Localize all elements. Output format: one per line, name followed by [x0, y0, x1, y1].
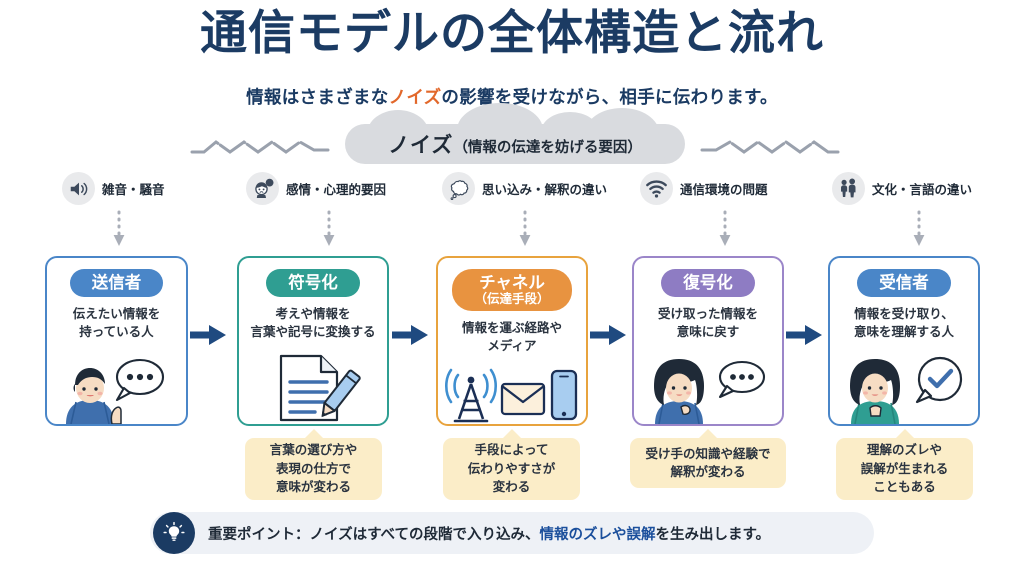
flow-arrow-0 [190, 322, 226, 348]
page-title-text: 通信モデルの全体構造と流れ [200, 6, 824, 61]
flow-box-encoding[interactable]: 符号化考えや情報を 言葉や記号に変換する [237, 256, 389, 426]
people-icon [832, 172, 865, 205]
flow-box-title-pill: 受信者 [857, 269, 951, 297]
key-point-text: 重要ポイント：ノイズはすべての段階で入り込み、情報のズレや誤解を生み出します。 [208, 523, 770, 544]
flow-box-channel[interactable]: チャネル（伝達手段）情報を運ぶ経路や メディア [436, 256, 588, 426]
note-channel: 手段によって 伝わりやすさが 変わる [443, 438, 580, 500]
flow-box-decoding[interactable]: 復号化受け取った情報を 意味に戻す [632, 256, 784, 426]
thought-bubble-icon [442, 172, 475, 205]
flow-box-description: 受け取った情報を 意味に戻す [658, 305, 758, 341]
page-title-wrap: 通信モデルの全体構造と流れ [0, 8, 1024, 61]
lightbulb-glyph [162, 521, 186, 545]
subtitle-noise-word: ノイズ [389, 88, 442, 108]
noise-item-label: 文化・言語の違い [872, 179, 972, 198]
flow-box-subtitle: （伝達手段） [474, 292, 549, 306]
key-point-pre: 重要ポイント：ノイズはすべての段階で入り込み、 [208, 527, 539, 543]
noise-cloud-banner: ノイズ（情報の伝達を妨げる要因） [345, 124, 685, 164]
flow-box-title: 復号化 [683, 273, 733, 292]
flow-box-illustration-document-pencil [263, 345, 363, 424]
noise-cloud-label: ノイズ [388, 133, 453, 157]
flow-box-title-pill: 符号化 [266, 269, 360, 297]
flow-box-title: チャネル [479, 273, 545, 292]
key-point-highlight: 情報のズレや誤解 [539, 527, 655, 543]
flow-box-illustration-woman-check-bubble [837, 345, 972, 424]
zigzag-right-icon [700, 138, 840, 158]
flow-box-title-pill: チャネル（伝達手段） [452, 269, 571, 311]
page-title: 通信モデルの全体構造と流れ [190, 8, 834, 61]
noise-item-3[interactable]: 通信環境の問題 [640, 172, 768, 205]
noise-item-label: 通信環境の問題 [680, 179, 768, 198]
note-decoding: 受け手の知識や経験で 解釈が変わる [630, 438, 786, 488]
flow-box-sender[interactable]: 送信者伝えたい情報を 持っている人 [45, 256, 188, 426]
cloud-bump [347, 128, 383, 156]
cloud-bump [647, 130, 683, 158]
flow-box-title: 受信者 [879, 273, 929, 292]
noise-connector-arrow [718, 210, 732, 252]
flow-box-receiver[interactable]: 受信者情報を受け取り、 意味を理解する人 [828, 256, 980, 426]
infographic-canvas: 通信モデルの全体構造と流れ 情報はさまざまなノイズの影響を受けながら、相手に伝わ… [0, 0, 1024, 576]
noise-connector-arrow [322, 210, 336, 252]
wifi-icon [640, 172, 673, 205]
flow-box-description: 情報を運ぶ経路や メディア [462, 319, 562, 355]
flow-box-title: 送信者 [92, 273, 142, 292]
flow-box-description: 伝えたい情報を 持っている人 [73, 305, 161, 341]
noise-cloud-note: （情報の伝達を妨げる要因） [453, 140, 642, 156]
worried-face-icon [246, 172, 279, 205]
flow-box-illustration-woman-thinking-bubble [641, 345, 776, 424]
note-receiver: 理解のズレや 誤解が生まれる こともある [836, 438, 973, 500]
noise-cloud-text: ノイズ（情報の伝達を妨げる要因） [388, 129, 642, 159]
flow-box-description: 情報を受け取り、 意味を理解する人 [854, 305, 954, 341]
flow-arrow-2 [590, 322, 626, 348]
flow-box-description: 考えや情報を 言葉や記号に変換する [250, 305, 375, 341]
noise-item-4[interactable]: 文化・言語の違い [832, 172, 972, 205]
noise-connector-arrow [912, 210, 926, 252]
key-point-bar: 重要ポイント：ノイズはすべての段階で入り込み、情報のズレや誤解を生み出します。 [150, 512, 874, 554]
flow-arrow-1 [392, 322, 428, 348]
flow-box-title-pill: 復号化 [661, 269, 755, 297]
subtitle-pre: 情報はさまざまな [246, 88, 388, 108]
flow-arrow-3 [786, 322, 822, 348]
noise-connector-arrow [112, 210, 126, 252]
noise-item-label: 思い込み・解釈の違い [482, 179, 607, 198]
lightbulb-icon [153, 512, 195, 554]
noise-item-label: 雑音・騒音 [102, 179, 165, 198]
flow-box-illustration-man-speech-bubble [54, 345, 179, 424]
flow-box-title-pill: 送信者 [70, 269, 164, 297]
speaker-icon [62, 172, 95, 205]
noise-item-0[interactable]: 雑音・騒音 [62, 172, 165, 205]
flow-box-title: 符号化 [288, 273, 338, 292]
note-encoding: 言葉の選び方や 表現の仕方で 意味が変わる [245, 438, 382, 500]
flow-box-illustration-antenna-mail-phone [442, 359, 582, 425]
key-point-post: を生み出します。 [655, 527, 770, 543]
noise-item-label: 感情・心理的要因 [286, 179, 386, 198]
noise-item-1[interactable]: 感情・心理的要因 [246, 172, 386, 205]
noise-connector-arrow [518, 210, 532, 252]
zigzag-left-icon [190, 138, 330, 158]
noise-item-2[interactable]: 思い込み・解釈の違い [442, 172, 607, 205]
